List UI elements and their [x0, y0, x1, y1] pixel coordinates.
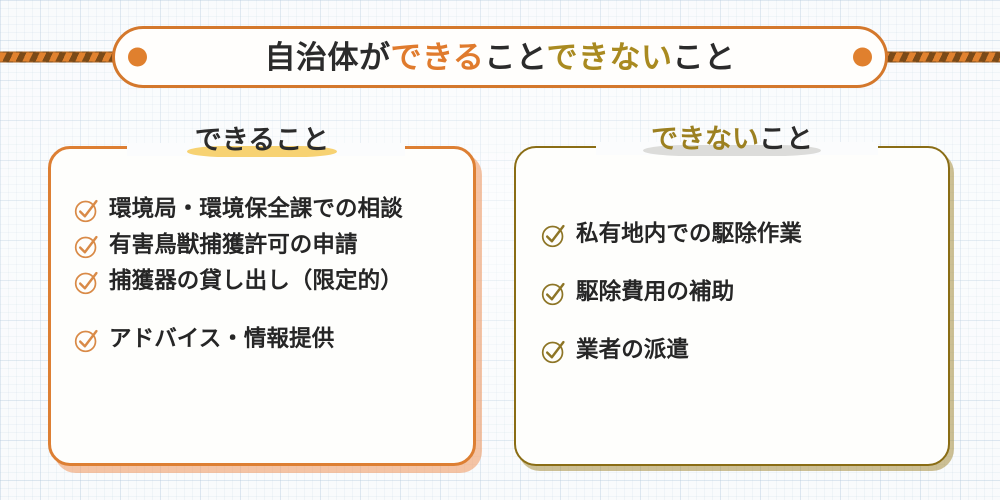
check-circle-icon: [73, 233, 100, 260]
check-circle-icon: [73, 269, 100, 296]
page-title-segment-1: 自治体が: [265, 40, 391, 75]
list-item: 業者の派遣: [540, 334, 922, 366]
list-item-label: 業者の派遣: [576, 334, 689, 366]
panel-can-do-heading-segment-1: できる: [195, 125, 275, 155]
list-item: 駆除費用の補助: [540, 276, 922, 308]
title-banner: 自治体ができることできないこと: [0, 26, 1000, 88]
page-title-segment-2: できる: [391, 40, 485, 75]
check-circle-icon: [73, 327, 100, 354]
page-title-segment-4: できない: [546, 40, 672, 75]
list-item-label: 駆除費用の補助: [576, 276, 734, 308]
check-circle-icon: [540, 338, 567, 365]
panel-can-do-heading-segment-2: こと: [275, 125, 329, 155]
page-title-segment-5: こと: [672, 40, 735, 75]
panel-cannot-do-list: 私有地内での駆除作業 駆除費用の補助 業者の派遣: [516, 148, 948, 392]
check-circle-icon: [73, 197, 100, 224]
check-circle-icon: [540, 280, 567, 307]
list-item: 私有地内での駆除作業: [540, 218, 922, 250]
list-item: 捕獲器の貸し出し（限定的）: [73, 265, 447, 297]
list-item-label: 環境局・環境保全課での相談: [109, 193, 403, 225]
check-circle-icon: [540, 222, 567, 249]
title-banner-pill: 自治体ができることできないこと: [112, 26, 888, 88]
list-item-label: アドバイス・情報提供: [109, 323, 334, 355]
page-title-segment-3: こと: [484, 40, 546, 75]
list-item-label: 有害鳥獣捕獲許可の申請: [109, 229, 358, 261]
list-item: アドバイス・情報提供: [73, 323, 447, 355]
panel-cannot-do-heading-segment-1: できない: [651, 124, 759, 154]
list-item: 有害鳥獣捕獲許可の申請: [73, 229, 447, 261]
list-item: 環境局・環境保全課での相談: [73, 193, 447, 225]
panel-cannot-do-heading-segment-2: こと: [759, 124, 813, 154]
circle-dot-icon-right: [853, 48, 872, 67]
panel-can-do: できること 環境局・環境保全課での相談 有害鳥獣捕獲許可の申請: [48, 146, 476, 466]
panel-cannot-do: できないこと 私有地内での駆除作業 駆除費用の補助: [514, 146, 950, 466]
twisted-rope-icon-left: [0, 52, 130, 63]
list-item-label: 私有地内での駆除作業: [576, 218, 802, 250]
circle-dot-icon-left: [128, 48, 147, 67]
page-title: 自治体ができることできないこと: [265, 42, 736, 73]
list-item-label: 捕獲器の貸し出し（限定的）: [109, 265, 403, 297]
panel-can-do-list: 環境局・環境保全課での相談 有害鳥獣捕獲許可の申請 捕獲器の貸し出し（限定的）: [51, 149, 473, 359]
twisted-rope-icon-right: [870, 52, 1000, 63]
